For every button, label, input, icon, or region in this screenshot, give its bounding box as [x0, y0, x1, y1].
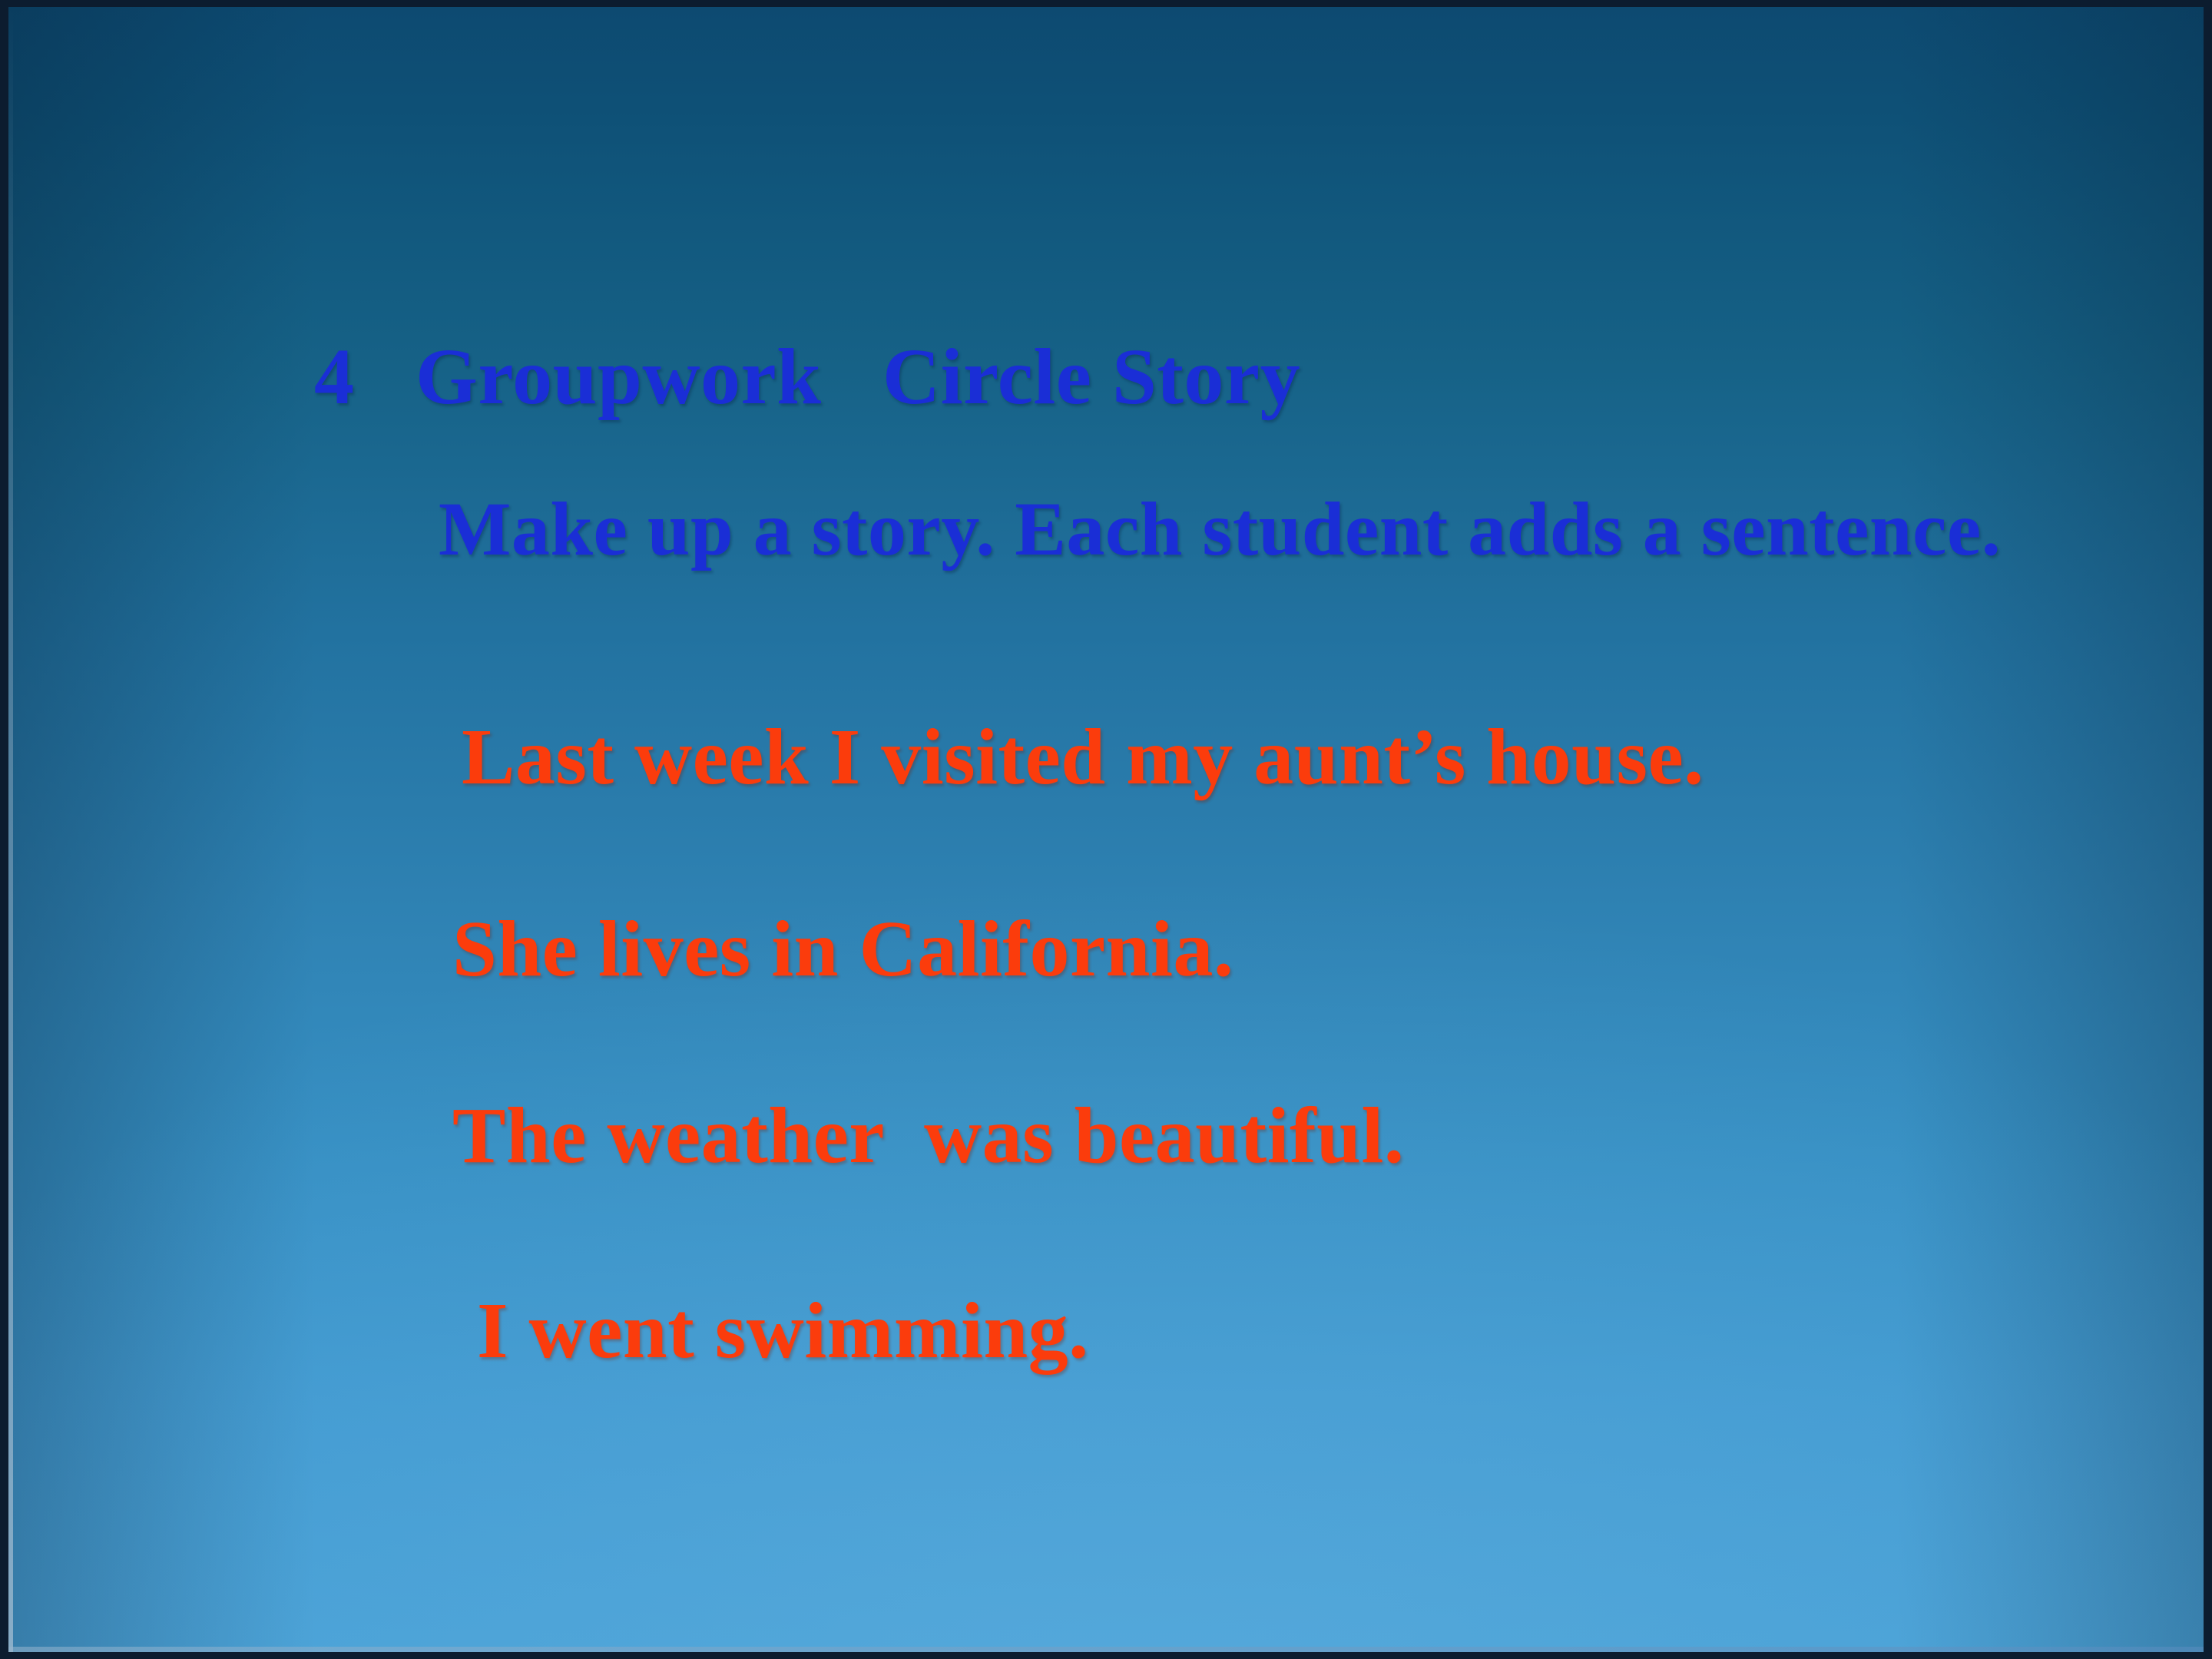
- slide-title: 4 Groupwork Circle Story: [314, 337, 1300, 417]
- presentation-slide: 4 Groupwork Circle Story Make up a story…: [0, 0, 2212, 1659]
- slide-instruction: Make up a story. Each student adds a sen…: [439, 491, 2001, 568]
- story-sentence-1: Last week I visited my aunt’s house.: [462, 717, 1704, 797]
- slide-content: 4 Groupwork Circle Story Make up a story…: [8, 7, 2204, 1652]
- story-sentence-3: The weather was beautiful.: [452, 1096, 1404, 1176]
- story-sentence-2: She lives in California.: [452, 909, 1233, 989]
- story-sentence-4: I went swimming.: [477, 1291, 1089, 1371]
